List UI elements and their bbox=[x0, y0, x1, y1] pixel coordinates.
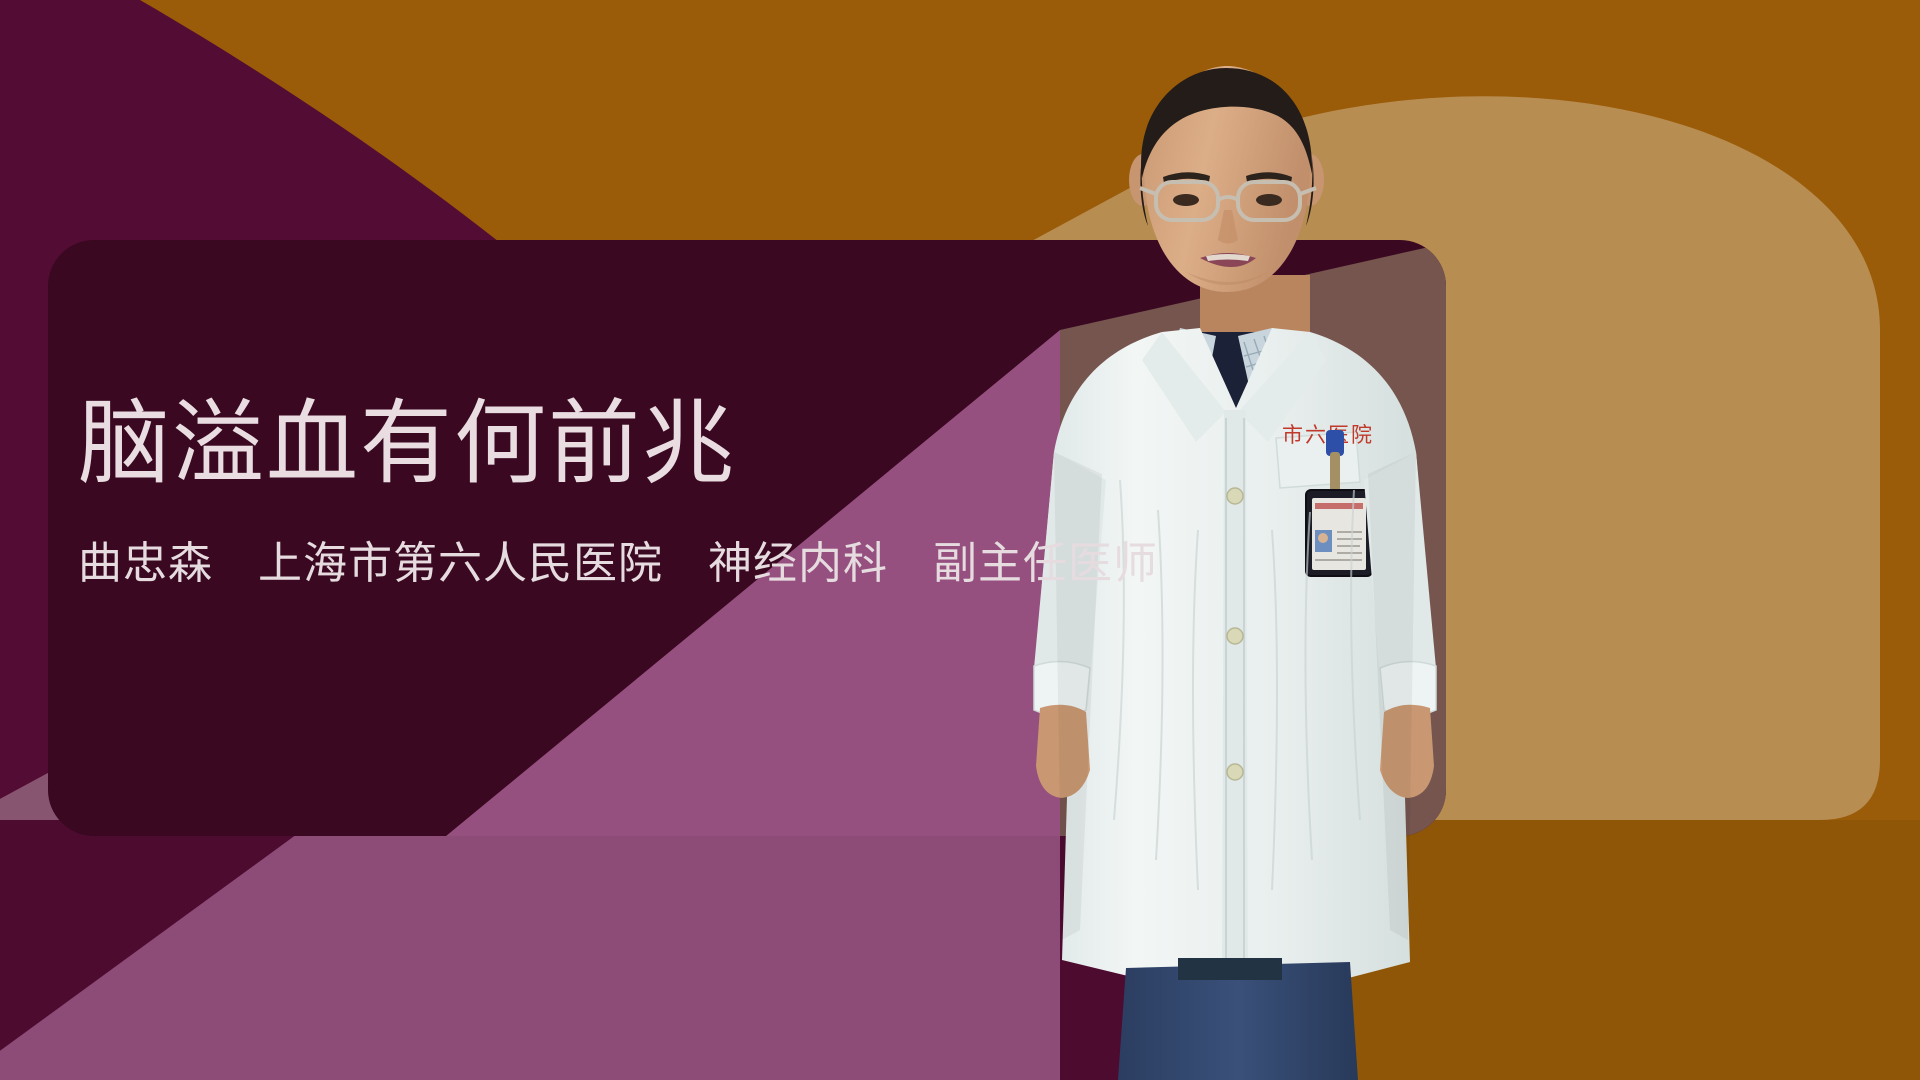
belt bbox=[1178, 958, 1282, 980]
presenter-credentials: 曲忠森 上海市第六人民医院 神经内科 副主任医师 bbox=[78, 542, 1378, 586]
page-title: 脑溢血有何前兆 bbox=[78, 398, 1378, 490]
coat-button-2 bbox=[1227, 628, 1243, 644]
coat-button-3 bbox=[1227, 764, 1243, 780]
eye-right bbox=[1256, 194, 1282, 206]
slide-text-block: 脑溢血有何前兆 曲忠森 上海市第六人民医院 神经内科 副主任医师 bbox=[78, 398, 1378, 586]
slide-canvas: 脑溢血有何前兆 曲忠森 上海市第六人民医院 神经内科 副主任医师 bbox=[0, 0, 1920, 1080]
eye-left bbox=[1173, 194, 1199, 206]
